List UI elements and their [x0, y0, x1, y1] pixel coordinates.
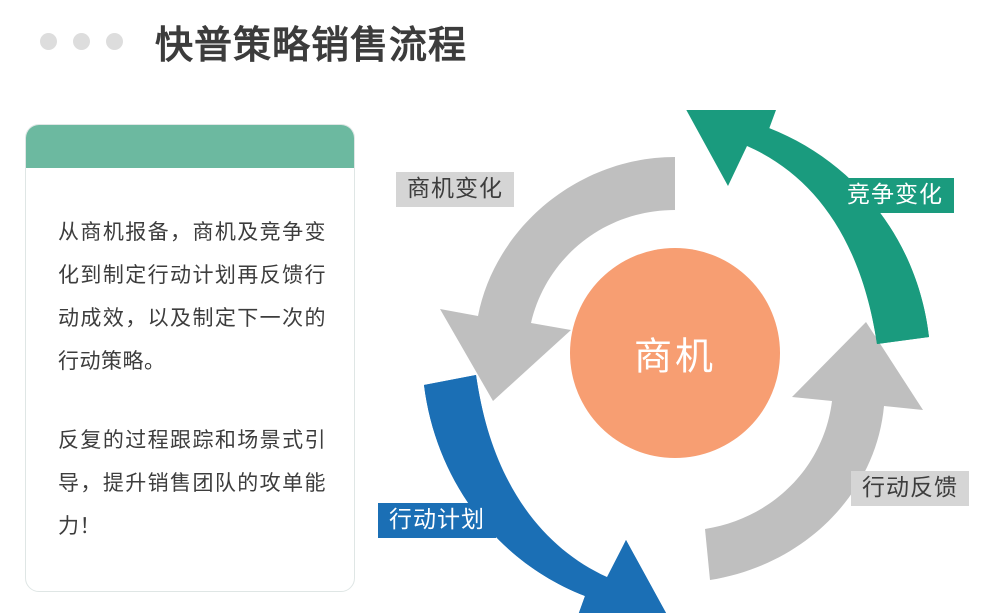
header-dot-2 — [73, 33, 90, 50]
card-header-band — [25, 124, 355, 168]
stage-label-action-plan: 行动计划 — [378, 503, 496, 538]
card-body: 从商机报备，商机及竞争变化到制定行动计划再反馈行动成效，以及制定下一次的行动策略… — [26, 169, 355, 548]
page-header: 快普策略销售流程 — [0, 0, 1000, 92]
card-paragraph-1: 从商机报备，商机及竞争变化到制定行动计划再反馈行动成效，以及制定下一次的行动策略… — [58, 211, 326, 383]
stage-label-action-feedback: 行动反馈 — [851, 471, 969, 506]
stage-label-opportunity-change: 商机变化 — [396, 172, 514, 207]
page-title: 快普策略销售流程 — [155, 14, 467, 69]
header-dot-1 — [40, 33, 57, 50]
description-card: 从商机报备，商机及竞争变化到制定行动计划再反馈行动成效，以及制定下一次的行动策略… — [25, 124, 355, 592]
header-dot-3 — [106, 33, 123, 50]
decorative-dots — [40, 33, 123, 50]
center-circle — [570, 248, 780, 458]
card-paragraph-2: 反复的过程跟踪和场景式引导，提升销售团队的攻单能力！ — [58, 419, 326, 548]
stage-label-competition-change: 竞争变化 — [836, 178, 954, 213]
